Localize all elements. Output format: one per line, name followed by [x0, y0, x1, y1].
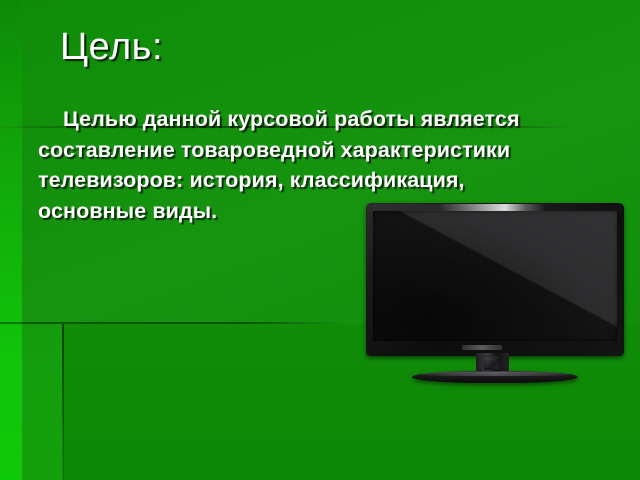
background-lower-panel [22, 324, 63, 480]
background-vertical-divider [62, 324, 64, 480]
slide-title: Цель: [60, 26, 163, 69]
background-accent-strip [0, 0, 22, 480]
tv-bezel-highlight [368, 204, 622, 211]
tv-bezel [366, 203, 624, 356]
tv-screen [373, 211, 617, 341]
tv-screen-vignette [373, 211, 617, 341]
background-horizontal-divider-lower [0, 322, 346, 324]
tv-brand-logo [462, 345, 502, 350]
tv-stand-hinge [484, 356, 500, 370]
tv-stand-base-highlight [420, 372, 570, 376]
television-image [366, 203, 628, 389]
presentation-slide: Цель: Целью данной курсовой работы являе… [0, 0, 640, 480]
